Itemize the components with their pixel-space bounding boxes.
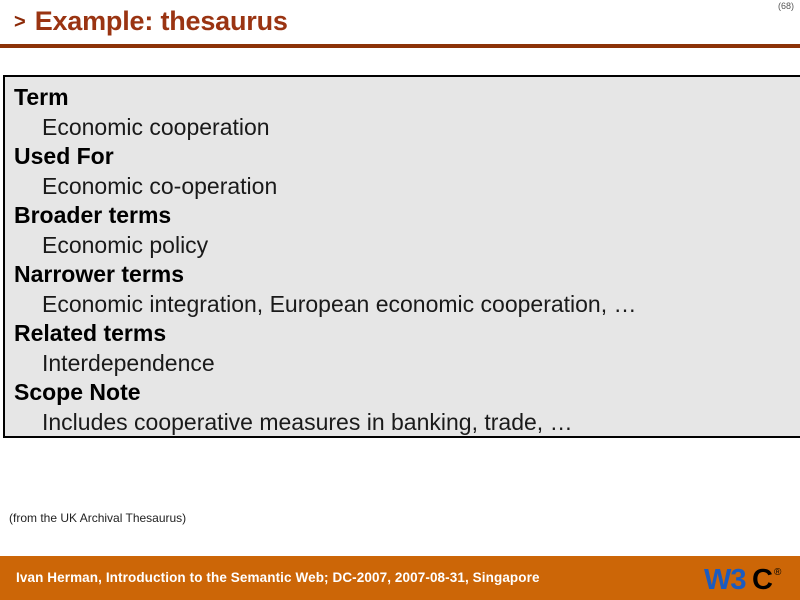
svg-text:®: ® — [774, 567, 782, 578]
entry-value: Economic integration, European economic … — [14, 290, 800, 320]
source-caption: (from the UK Archival Thesaurus) — [9, 511, 186, 525]
entry-label: Related terms — [14, 319, 800, 349]
footer-text: Ivan Herman, Introduction to the Semanti… — [16, 570, 540, 585]
entry-label: Term — [14, 83, 800, 113]
slide-number: (68) — [778, 1, 794, 11]
entry-row: Narrower terms Economic integration, Eur… — [14, 260, 800, 319]
entry-row: Broader terms Economic policy — [14, 201, 800, 260]
entry-row: Scope Note Includes cooperative measures… — [14, 378, 800, 437]
chevron-right-icon: > — [14, 12, 26, 32]
entry-row: Term Economic cooperation — [14, 83, 800, 142]
w3c-logo: W3 C ® — [694, 562, 790, 596]
entry-value: Includes cooperative measures in banking… — [14, 408, 800, 438]
entry-label: Broader terms — [14, 201, 800, 231]
entry-value: Economic co-operation — [14, 172, 800, 202]
svg-text:W3: W3 — [704, 564, 746, 595]
entry-value: Economic policy — [14, 231, 800, 261]
entry-label: Narrower terms — [14, 260, 800, 290]
svg-text:C: C — [752, 564, 773, 595]
page-title: > Example: thesaurus — [14, 8, 288, 35]
entry-value: Interdependence — [14, 349, 800, 379]
title-divider — [0, 44, 800, 48]
footer-bar: Ivan Herman, Introduction to the Semanti… — [0, 556, 800, 600]
entry-label: Scope Note — [14, 378, 800, 408]
entry-value: Economic cooperation — [14, 113, 800, 143]
page-title-text: Example: thesaurus — [35, 8, 288, 35]
entry-label: Used For — [14, 142, 800, 172]
entry-row: Related terms Interdependence — [14, 319, 800, 378]
thesaurus-entry-box: Term Economic cooperation Used For Econo… — [3, 75, 800, 438]
entry-row: Used For Economic co-operation — [14, 142, 800, 201]
